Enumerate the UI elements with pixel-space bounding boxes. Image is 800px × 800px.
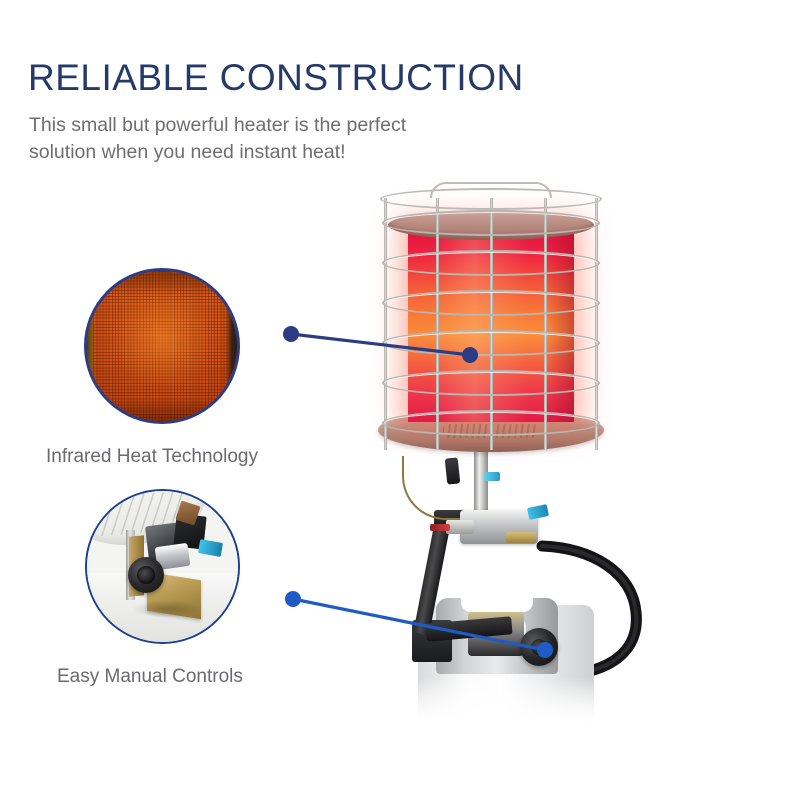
tank-collar-notch	[461, 598, 533, 612]
propane-tank-handwheel	[520, 628, 558, 666]
connector-dot-infrared-start	[283, 326, 299, 342]
wire-safety-cage	[382, 188, 600, 456]
tank-bottom-fade	[400, 680, 612, 740]
valve-closeup-scene	[87, 491, 238, 642]
valve-scene-shadow	[132, 600, 201, 618]
cage-post	[384, 198, 387, 450]
mesh-left-edge	[87, 283, 96, 409]
valve-teal-accent	[527, 504, 549, 520]
callout-image-infrared-heat-technology	[84, 268, 240, 424]
callout-image-easy-manual-controls	[85, 489, 240, 644]
cage-ring	[382, 210, 600, 236]
page-title: RELIABLE CONSTRUCTION	[28, 56, 524, 100]
regulator-red-fitting	[430, 524, 450, 531]
infographic-page: RELIABLE CONSTRUCTION This small but pow…	[0, 0, 800, 800]
mesh-right-edge	[226, 280, 237, 409]
cage-ring	[382, 370, 600, 396]
igniter-module	[445, 457, 461, 484]
regulator-valve-nut	[446, 520, 474, 534]
cage-ring	[382, 410, 600, 436]
callout-caption-easy-manual-controls: Easy Manual Controls	[57, 665, 243, 689]
valve-scene-teal-part	[198, 539, 223, 556]
cage-ring	[382, 250, 600, 276]
mesh-bottom-shading	[87, 400, 237, 421]
cage-ring	[382, 330, 600, 356]
cage-ring	[382, 290, 600, 316]
cage-carry-handle	[430, 182, 552, 198]
cage-post	[595, 198, 598, 450]
valve-teal-accent-upper	[484, 472, 500, 481]
mesh-top-shading	[87, 271, 237, 295]
product-image-heater	[360, 180, 690, 720]
valve-scene-control-knob	[128, 557, 164, 593]
brass-hose-fitting	[506, 532, 536, 543]
connector-dot-controls-start	[285, 591, 301, 607]
page-subtitle: This small but powerful heater is the pe…	[29, 112, 449, 166]
callout-caption-infrared-heat-technology: Infrared Heat Technology	[46, 445, 258, 469]
